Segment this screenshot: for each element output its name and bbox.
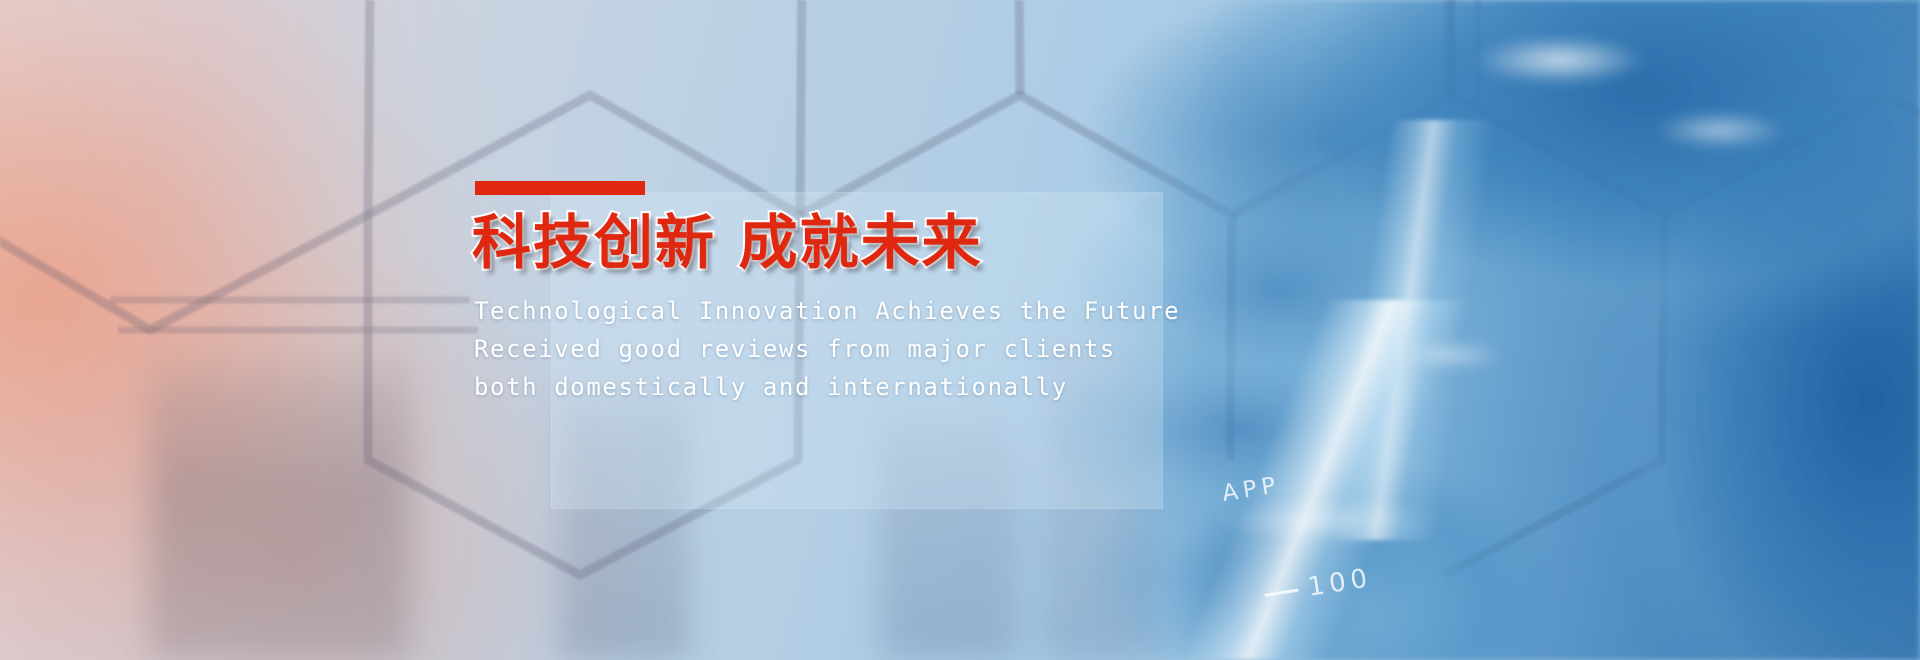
flask-tick-icon: [1264, 589, 1298, 597]
headline-chinese: 科技创新 成就未来: [472, 212, 983, 274]
subtitle-line-3: both domestically and internationally: [474, 368, 1180, 406]
banner-hero: N APP 100 科技创新 成就未来 Technological Innova…: [0, 0, 1920, 660]
subtitle-line-2: Received good reviews from major clients: [474, 330, 1180, 368]
flask-graduation-marks: APP 100: [1220, 460, 1374, 613]
subtitle-block: Technological Innovation Achieves the Fu…: [474, 292, 1180, 406]
red-accent-bar: [475, 181, 645, 195]
subtitle-line-1: Technological Innovation Achieves the Fu…: [474, 292, 1180, 330]
